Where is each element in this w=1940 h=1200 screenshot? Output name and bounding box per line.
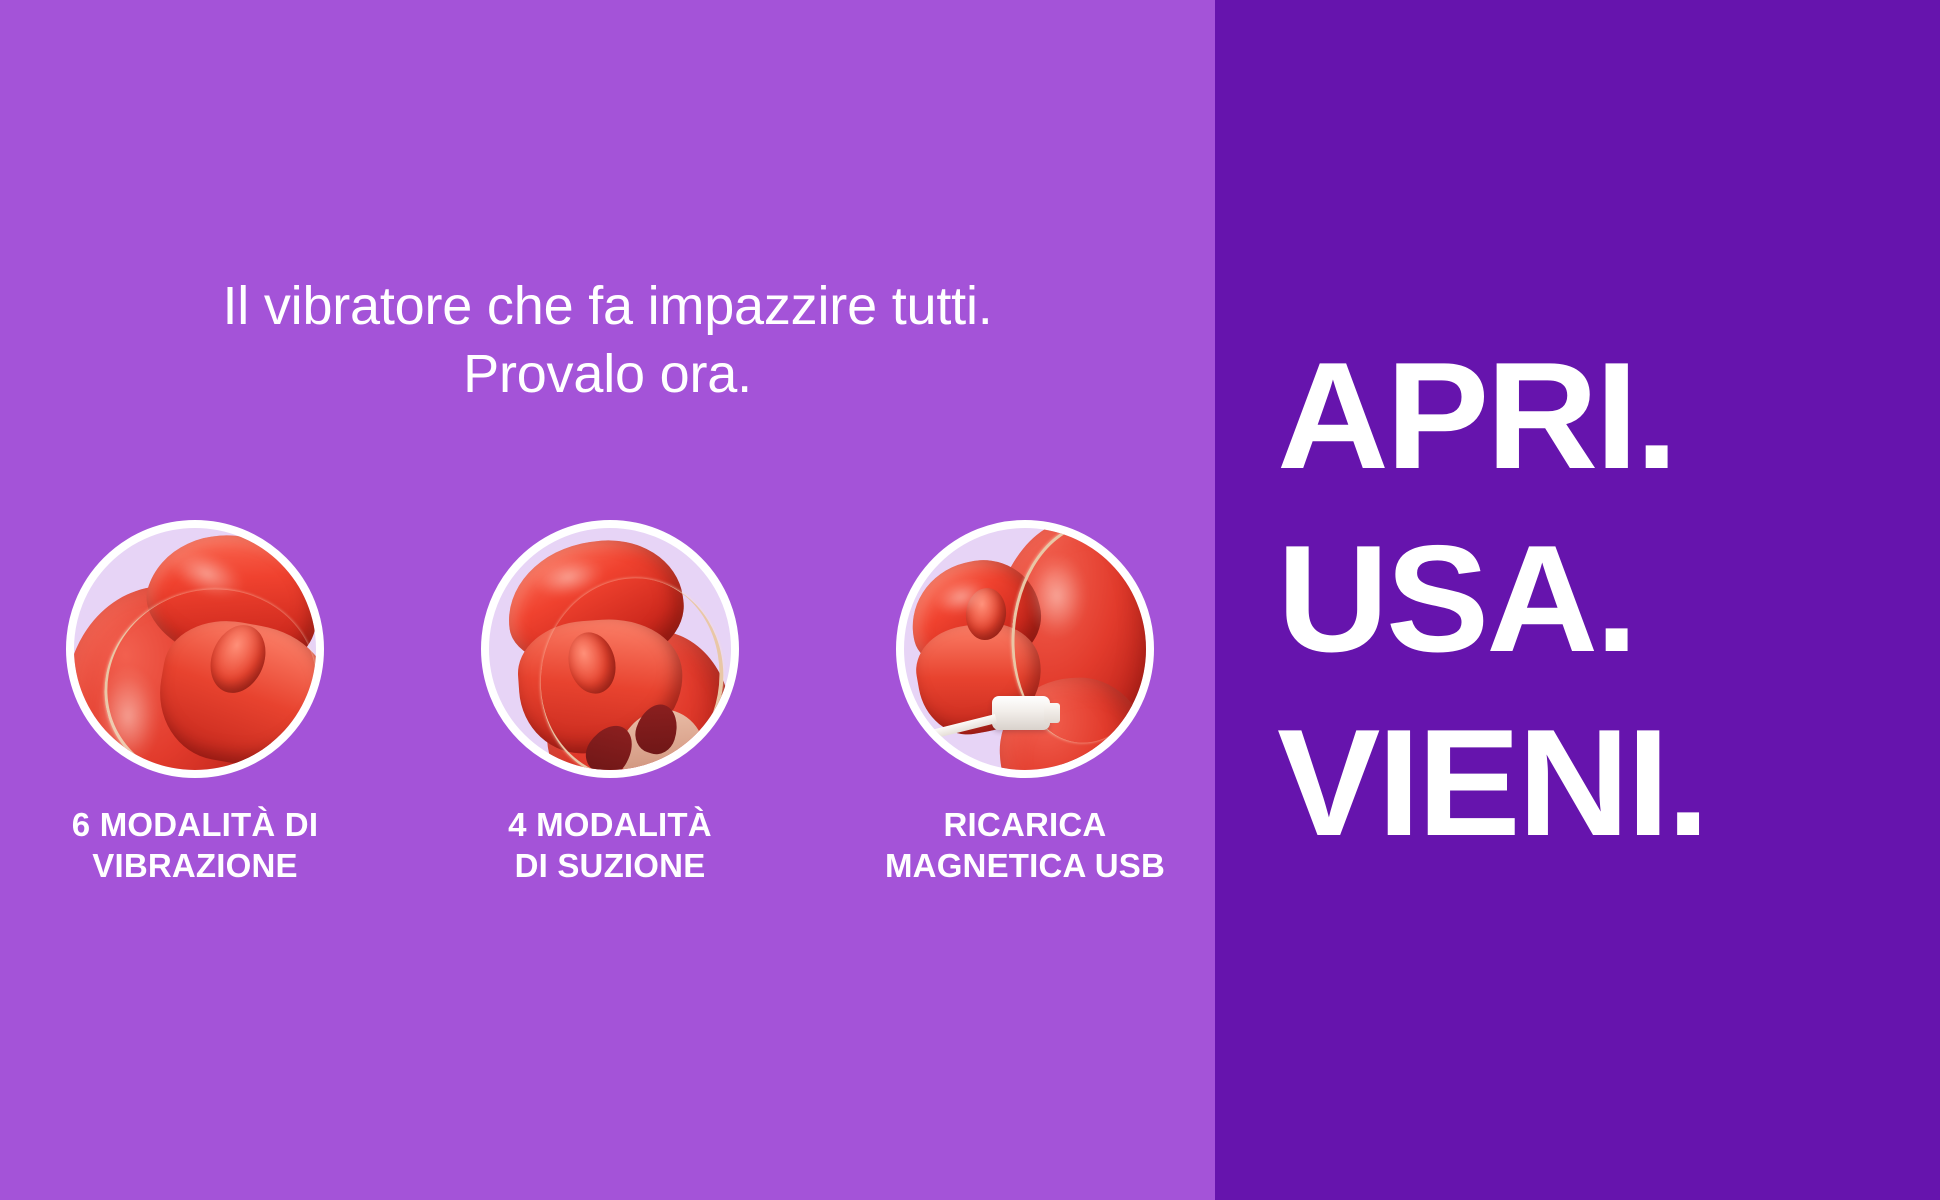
feature-caption: RICARICA MAGNETICA USB xyxy=(885,805,1165,887)
headline-line-1: Il vibratore che fa impazzire tutti. xyxy=(70,272,1145,340)
product-image-suction[interactable] xyxy=(481,520,739,778)
slogan-block: APRI. USA. VIENI. xyxy=(1215,0,1940,1200)
slogan-line-2: USA. xyxy=(1277,522,1940,677)
feature-suction-modes[interactable]: 4 MODALITÀ DI SUZIONE xyxy=(445,520,775,887)
slogan-line-3: VIENI. xyxy=(1277,706,1940,861)
headline: Il vibratore che fa impazzire tutti. Pro… xyxy=(0,272,1215,408)
product-image-usb[interactable] xyxy=(896,520,1154,778)
ad-banner: Il vibratore che fa impazzire tutti. Pro… xyxy=(0,0,1940,1200)
product-image-vibration[interactable] xyxy=(66,520,324,778)
feature-list: 6 MODALITÀ DI VIBRAZIONE 4 MODALITÀ DI S… xyxy=(30,520,1190,887)
feature-vibration-modes[interactable]: 6 MODALITÀ DI VIBRAZIONE xyxy=(30,520,360,887)
feature-usb-charging[interactable]: RICARICA MAGNETICA USB xyxy=(860,520,1190,887)
slogan-line-1: APRI. xyxy=(1277,339,1940,494)
feature-caption: 6 MODALITÀ DI VIBRAZIONE xyxy=(72,805,318,887)
feature-caption: 4 MODALITÀ DI SUZIONE xyxy=(508,805,712,887)
headline-line-2: Provalo ora. xyxy=(70,340,1145,408)
